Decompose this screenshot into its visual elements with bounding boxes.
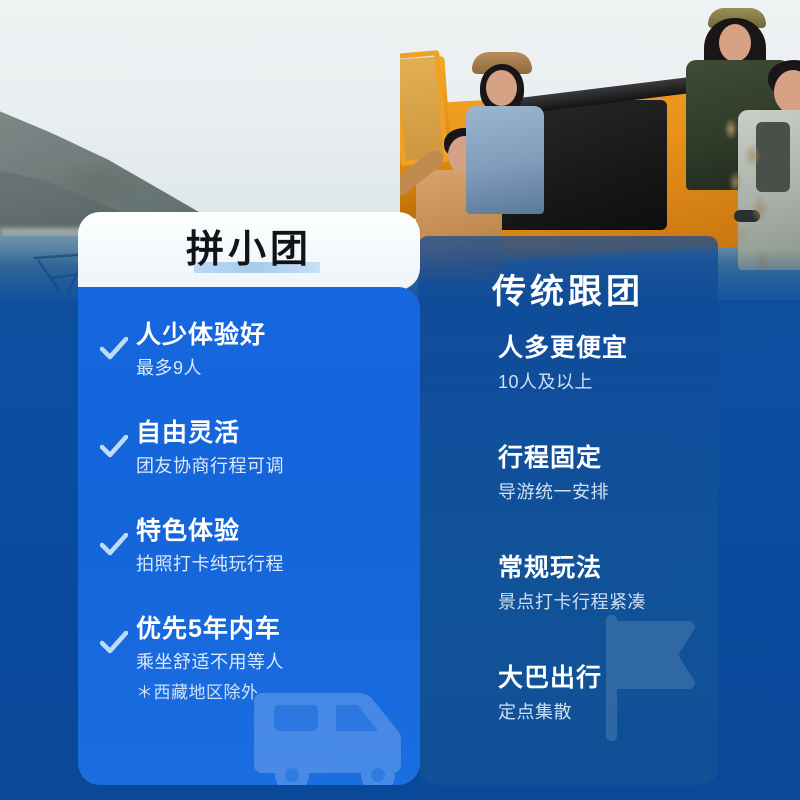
feature-subtitle: 最多9人: [136, 356, 266, 381]
check-icon: [100, 631, 128, 655]
list-item: 大巴出行 定点集散: [418, 662, 718, 725]
list-item: 人少体验好 最多9人: [78, 319, 420, 381]
feature-title: 自由灵活: [136, 417, 284, 451]
feature-title: 优先5年内车: [136, 613, 284, 647]
feature-title: 常规玩法: [498, 552, 718, 586]
list-item: 人多更便宜 10人及以上: [418, 332, 718, 395]
feature-subtitle: 乘坐舒适不用等人: [136, 650, 284, 675]
left-card-title: 拼小团: [186, 231, 312, 269]
feature-subtitle: 拍照打卡纯玩行程: [136, 552, 284, 577]
feature-subtitle: 团友协商行程可调: [136, 454, 284, 479]
feature-title: 大巴出行: [498, 662, 718, 696]
list-item: 自由灵活 团友协商行程可调: [78, 417, 420, 479]
feature-subtitle: 定点集散: [498, 700, 718, 725]
list-item: 常规玩法 景点打卡行程紧凑: [418, 552, 718, 615]
feature-title: 行程固定: [498, 442, 718, 476]
right-card-feature-list: 人多更便宜 10人及以上 行程固定 导游统一安排 常规玩法 景点打卡行程紧凑 大…: [418, 332, 718, 772]
left-card-feature-list: 人少体验好 最多9人 自由灵活 团友协商行程可调 特色体验: [78, 319, 420, 739]
list-item: 特色体验 拍照打卡纯玩行程: [78, 515, 420, 577]
pin-xiao-tuan-card[interactable]: 拼小团 人少体验好: [78, 212, 420, 785]
check-icon: [100, 337, 128, 361]
feature-subtitle: 景点打卡行程紧凑: [498, 590, 718, 615]
check-icon: [100, 533, 128, 557]
list-item: 行程固定 导游统一安排: [418, 442, 718, 505]
feature-title: 特色体验: [136, 515, 284, 549]
feature-subtitle: 10人及以上: [498, 370, 718, 395]
feature-note: ＊西藏地区除外: [136, 678, 284, 703]
right-card-title: 传统跟团: [418, 264, 718, 313]
left-card-header: 拼小团: [78, 212, 420, 290]
feature-subtitle: 导游统一安排: [498, 480, 718, 505]
check-icon: [100, 435, 128, 459]
feature-title: 人多更便宜: [498, 332, 718, 366]
chuan-tong-gen-tuan-card[interactable]: 传统跟团 人多更便宜 10人及以上 行程固定 导游统一安排 常规玩法 景点打卡行…: [418, 236, 718, 785]
left-card-body: 人少体验好 最多9人 自由灵活 团友协商行程可调 特色体验: [78, 287, 420, 785]
list-item: 优先5年内车 乘坐舒适不用等人 ＊西藏地区除外: [78, 613, 420, 703]
feature-title: 人少体验好: [136, 319, 266, 353]
